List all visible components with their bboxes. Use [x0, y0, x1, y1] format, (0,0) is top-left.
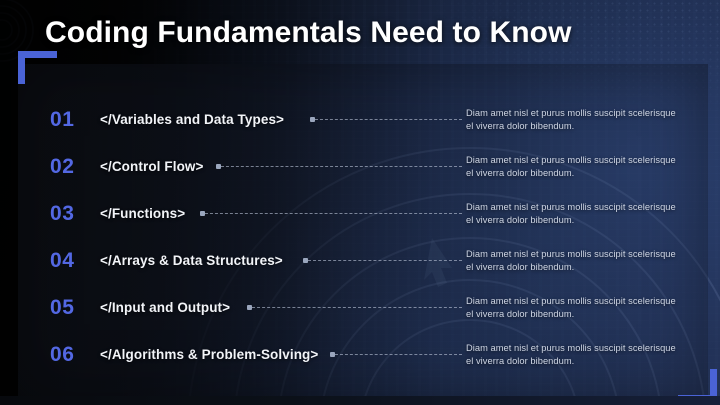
connector-line — [247, 305, 462, 311]
item-label[interactable]: </Control Flow> — [100, 159, 204, 174]
item-description: Diam amet nisl et purus mollis suscipit … — [466, 248, 682, 274]
connector-line — [330, 352, 462, 358]
connector-line — [200, 211, 462, 217]
item-number: 05 — [50, 297, 75, 318]
list-item[interactable]: 03 </Functions> Diam amet nisl et purus … — [0, 190, 720, 237]
bottom-strip — [0, 396, 720, 405]
item-label[interactable]: </Variables and Data Types> — [100, 112, 284, 127]
list-item[interactable]: 06 </Algorithms & Problem-Solving> Diam … — [0, 331, 720, 378]
list-item[interactable]: 05 </Input and Output> Diam amet nisl et… — [0, 284, 720, 331]
connector-line — [216, 164, 462, 170]
page-title: Coding Fundamentals Need to Know — [45, 16, 572, 50]
slide-root: Coding Fundamentals Need to Know 01 </Va… — [0, 0, 720, 405]
item-description: Diam amet nisl et purus mollis suscipit … — [466, 295, 682, 321]
item-label[interactable]: </Functions> — [100, 206, 185, 221]
item-number: 02 — [50, 156, 75, 177]
item-description: Diam amet nisl et purus mollis suscipit … — [466, 342, 682, 368]
item-description: Diam amet nisl et purus mollis suscipit … — [466, 154, 682, 180]
list-item[interactable]: 02 </Control Flow> Diam amet nisl et pur… — [0, 143, 720, 190]
item-description: Diam amet nisl et purus mollis suscipit … — [466, 201, 682, 227]
item-label[interactable]: </Arrays & Data Structures> — [100, 253, 283, 268]
connector-line — [303, 258, 462, 264]
list-item[interactable]: 01 </Variables and Data Types> Diam amet… — [0, 96, 720, 143]
item-number: 04 — [50, 250, 75, 271]
item-description: Diam amet nisl et purus mollis suscipit … — [466, 107, 682, 133]
connector-line — [310, 117, 462, 123]
item-label[interactable]: </Algorithms & Problem-Solving> — [100, 347, 318, 362]
item-number: 03 — [50, 203, 75, 224]
item-number: 01 — [50, 109, 75, 130]
fundamentals-list: 01 </Variables and Data Types> Diam amet… — [0, 64, 720, 396]
list-item[interactable]: 04 </Arrays & Data Structures> Diam amet… — [0, 237, 720, 284]
item-number: 06 — [50, 344, 75, 365]
item-label[interactable]: </Input and Output> — [100, 300, 230, 315]
